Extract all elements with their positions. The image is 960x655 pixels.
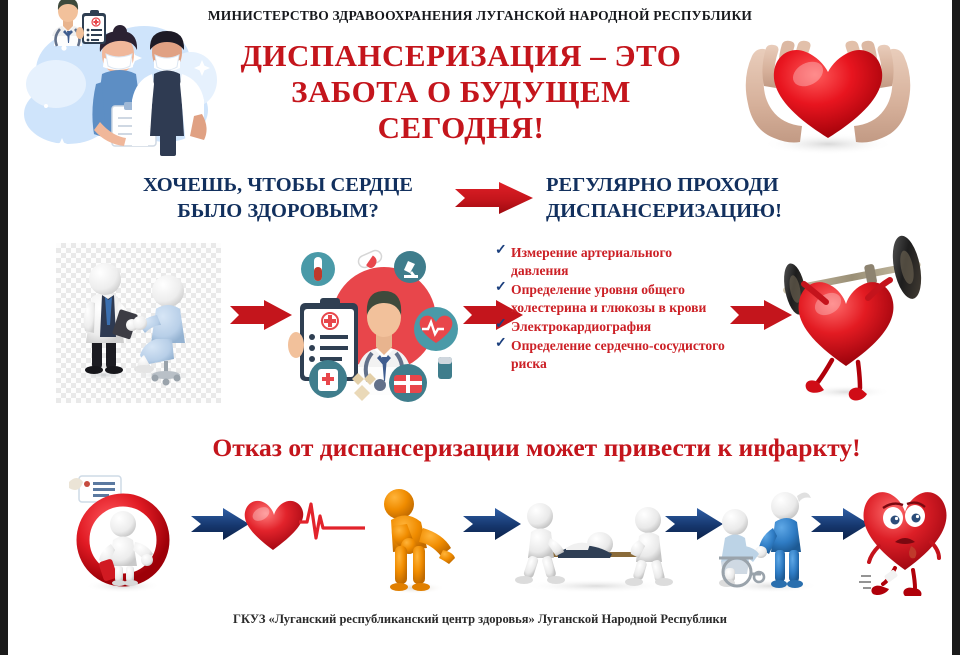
question-line-1: ХОЧЕШЬ, ЧТОБЫ СЕРДЦЕ [103, 172, 453, 198]
question-line-2: БЫЛО ЗДОРОВЫМ? [103, 198, 453, 224]
check-icon: ✓ [495, 282, 507, 294]
icon-doctor-with-clipboard [44, 0, 110, 46]
icon-medical-bag [389, 364, 427, 402]
checklist-item-label: Измерение артериального давления [511, 245, 672, 278]
title-line-3: СЕГОДНЯ! [226, 110, 696, 146]
illustration-paramedics-stretcher [508, 486, 683, 606]
figure-patient-seated [133, 275, 185, 386]
arrow-right-icon-red-1 [230, 300, 292, 330]
checklist-item-label: Электрокардиография [511, 319, 651, 334]
check-icon: ✓ [495, 338, 507, 350]
illustration-consultation [56, 243, 221, 403]
checklist-item: ✓ Электрокардиография [495, 318, 725, 336]
illustration-heart-ecg [233, 488, 368, 608]
check-icon: ✓ [495, 245, 507, 257]
check-icon: ✓ [495, 319, 507, 331]
icon-microscope [394, 251, 426, 283]
checklist-item: ✓ Определение сердечно-сосудистого риска [495, 337, 725, 373]
checklist-item: ✓ Определение уровня общего холестерина … [495, 281, 725, 317]
title-line-1: ДИСПАНСЕРИЗАЦИЯ – ЭТО [226, 38, 696, 74]
warning-banner-text: Отказ от диспансеризации может привести … [149, 428, 924, 468]
checklist-item-label: Определение сердечно-сосудистого риска [511, 338, 725, 371]
page-title: ДИСПАНСЕРИЗАЦИЯ – ЭТО ЗАБОТА О БУДУЩЕМ С… [226, 38, 696, 146]
illustration-sad-injured-heart [855, 476, 952, 596]
illustration-heart-in-hands [708, 20, 948, 165]
checklist-item: ✓ Измерение артериального давления [495, 244, 725, 280]
icon-first-aid-box [309, 360, 347, 398]
services-checklist: ✓ Измерение артериального давления ✓ Опр… [495, 244, 725, 374]
warning-banner: Отказ от диспансеризации может привести … [44, 425, 924, 471]
illustration-heart-weightlifter [768, 242, 943, 407]
question-heading: ХОЧЕШЬ, ЧТОБЫ СЕРДЦЕ БЫЛО ЗДОРОВЫМ? [103, 172, 453, 224]
footer-organisation: ГКУЗ «Луганский республиканский центр зд… [8, 612, 952, 627]
figure-doctor-standing [84, 263, 138, 374]
icon-test-tube [301, 252, 335, 286]
poster-canvas: МИНИСТЕРСТВО ЗДРАВООХРАНЕНИЯ ЛУГАНСКОЙ Н… [8, 0, 952, 655]
answer-line-2: ДИСПАНСЕРИЗАЦИЮ! [546, 198, 876, 224]
icon-pill [357, 249, 384, 270]
consequence-sequence [33, 476, 943, 596]
icon-heart-ecg [414, 307, 458, 351]
icon-vial [438, 357, 452, 379]
answer-line-1: РЕГУЛЯРНО ПРОХОДИ [546, 172, 876, 198]
illustration-refusal-prohibition [61, 476, 186, 596]
checklist-item-label: Определение уровня общего холестерина и … [511, 282, 706, 315]
title-line-2: ЗАБОТА О БУДУЩЕМ [226, 74, 696, 110]
illustration-flat-doctor-services [288, 245, 478, 410]
illustration-heart-attack-figure [363, 476, 473, 596]
arrow-right-icon-red-main [455, 182, 533, 214]
answer-heading: РЕГУЛЯРНО ПРОХОДИ ДИСПАНСЕРИЗАЦИЮ! [546, 172, 876, 224]
